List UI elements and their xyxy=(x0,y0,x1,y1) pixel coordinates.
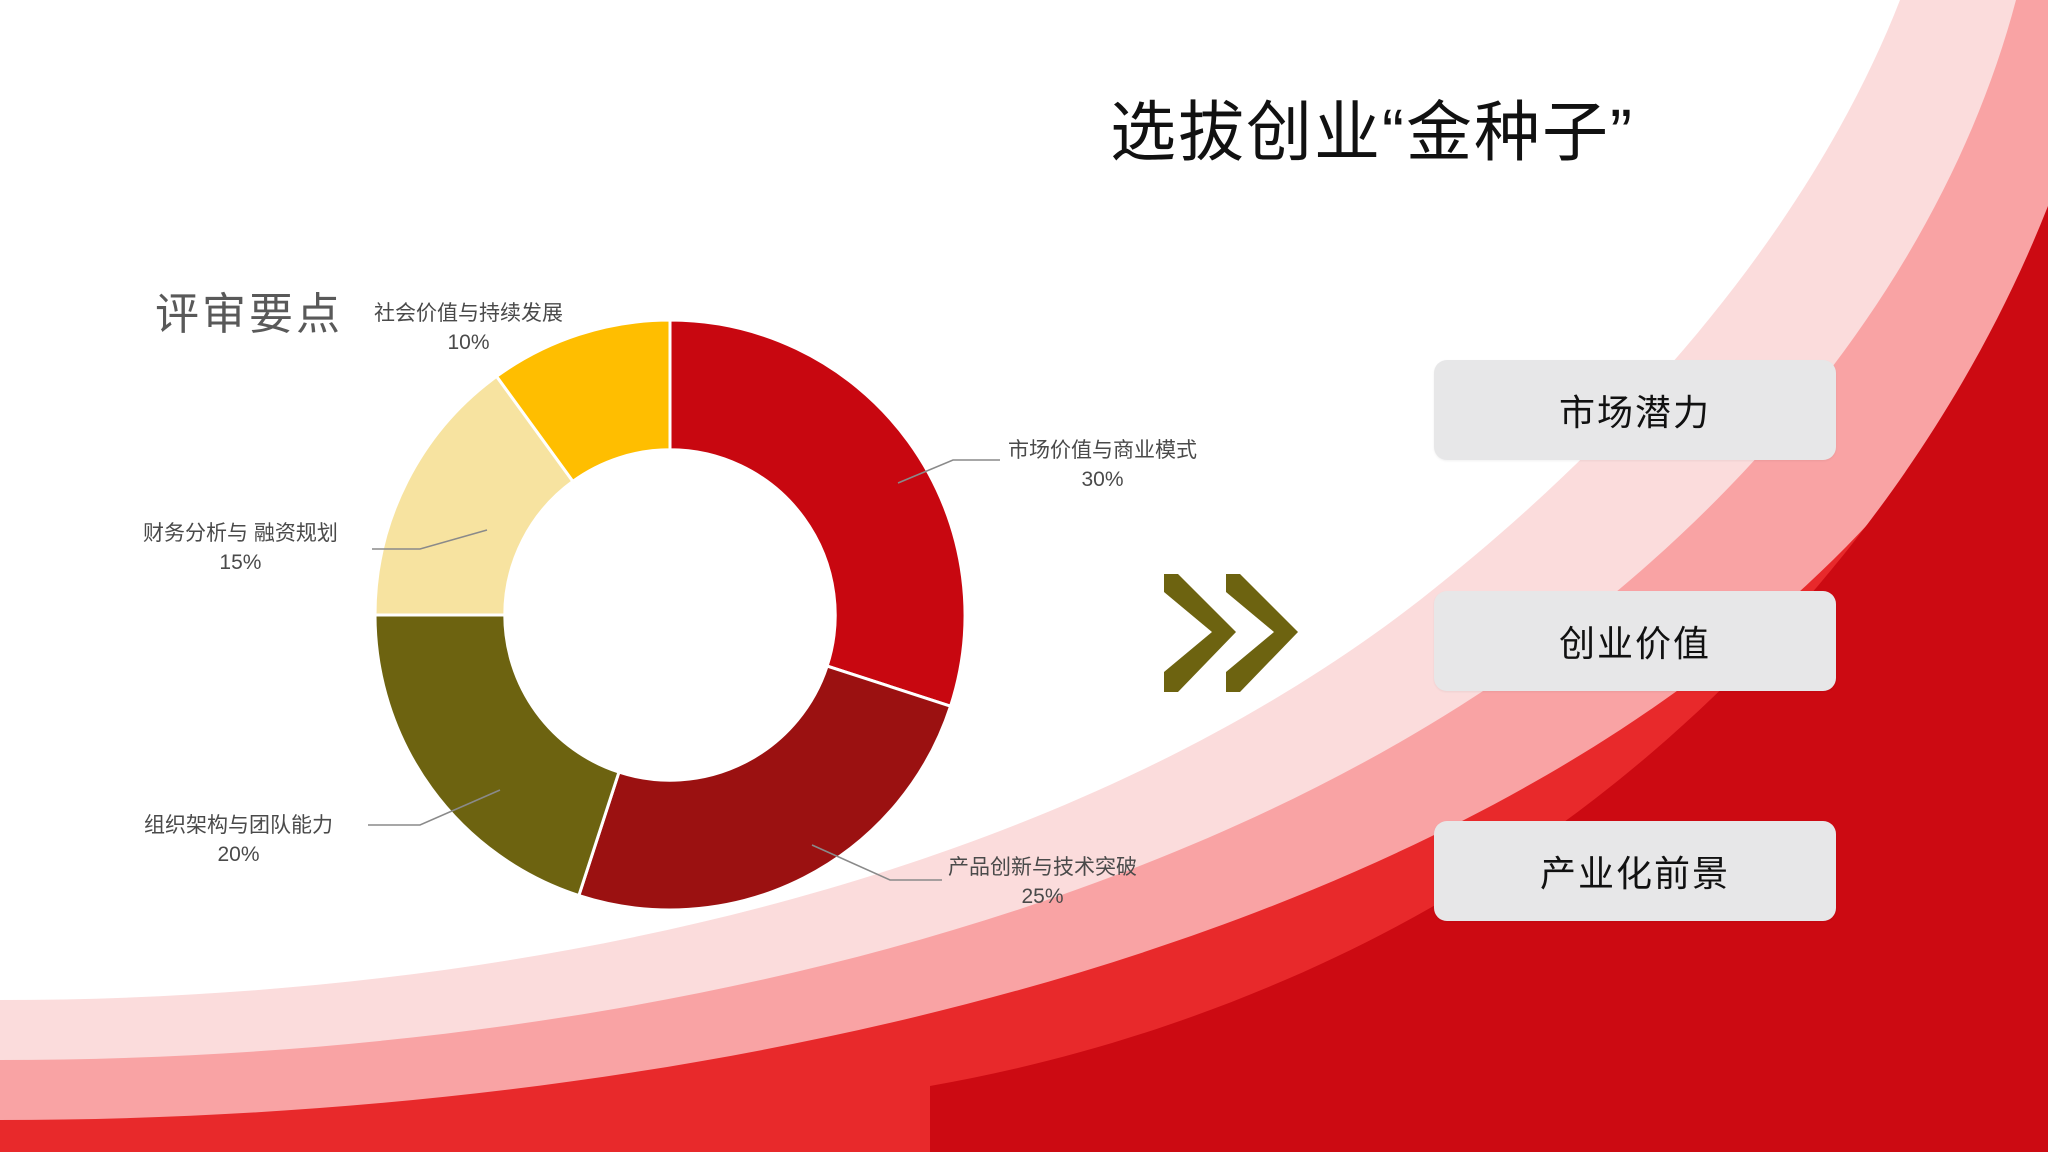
slide-title: 选拔创业“金种子” xyxy=(1110,96,1870,170)
card-industrialization-prospect-label: 产业化前景 xyxy=(1540,845,1730,897)
callout-social-value: 社会价值与持续发展 10% xyxy=(374,300,563,358)
donut-chart-svg xyxy=(330,290,1010,940)
card-industrialization-prospect[interactable]: 产业化前景 xyxy=(1434,821,1836,921)
callout-social-value-name: 社会价值与持续发展 xyxy=(374,302,563,325)
callout-finance-planning-pct: 15% xyxy=(143,549,338,578)
chevron-second xyxy=(1226,574,1298,692)
callout-team-capability-name: 组织架构与团队能力 xyxy=(144,814,333,837)
double-chevron-right-icon xyxy=(1160,568,1300,698)
callout-social-value-pct: 10% xyxy=(374,329,563,358)
callout-product-innovation-name: 产品创新与技术突破 xyxy=(948,856,1137,879)
slide-canvas: 选拔创业“金种子” 评审要点 社会价值与持续发展 10% 市场价值与商业模式 3… xyxy=(0,0,2048,1152)
callout-team-capability: 组织架构与团队能力 20% xyxy=(144,812,333,870)
callout-team-capability-pct: 20% xyxy=(144,841,333,870)
chevron-first xyxy=(1164,574,1236,692)
callout-market-value: 市场价值与商业模式 30% xyxy=(1008,437,1197,495)
callout-market-value-name: 市场价值与商业模式 xyxy=(1008,439,1197,462)
callout-market-value-pct: 30% xyxy=(1008,466,1197,495)
callout-finance-planning: 财务分析与 融资规划 15% xyxy=(143,520,338,578)
callout-product-innovation-pct: 25% xyxy=(948,883,1137,912)
donut-slice xyxy=(670,320,965,706)
donut-slice xyxy=(579,666,951,910)
card-market-potential[interactable]: 市场潜力 xyxy=(1434,360,1836,460)
section-heading: 评审要点 xyxy=(155,278,343,342)
donut-slice xyxy=(375,615,619,896)
card-entrepreneurial-value-label: 创业价值 xyxy=(1559,615,1711,667)
donut-chart xyxy=(330,290,1010,940)
callout-product-innovation: 产品创新与技术突破 25% xyxy=(948,854,1137,912)
callout-finance-planning-name: 财务分析与 融资规划 xyxy=(143,522,338,545)
card-market-potential-label: 市场潜力 xyxy=(1559,384,1711,436)
card-entrepreneurial-value[interactable]: 创业价值 xyxy=(1434,591,1836,691)
